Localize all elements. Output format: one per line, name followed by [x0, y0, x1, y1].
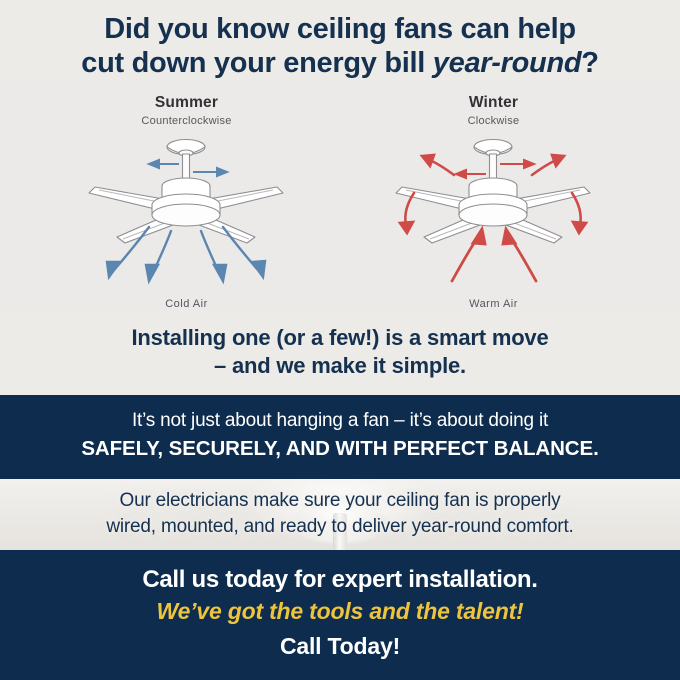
summer-air-label: Cold Air: [69, 298, 304, 310]
electricians-message: Our electricians make sure your ceiling …: [106, 488, 573, 539]
winter-air-label: Warm Air: [376, 298, 611, 310]
summer-ceiling-fan-illustration: [79, 131, 294, 296]
electricians-section: Our electricians make sure your ceiling …: [0, 479, 680, 551]
cta-line-1: Call us today for expert installation.: [16, 566, 664, 595]
winter-subtitle: Clockwise: [376, 115, 611, 127]
winter-lower-airflow-arrows: [452, 229, 536, 281]
headline-line-2-prefix: cut down your energy bill: [81, 47, 433, 79]
winter-title: Winter: [376, 94, 611, 112]
electricians-line-1: Our electricians make sure your ceiling …: [106, 488, 573, 514]
infographic-page: Did you know ceiling fans can help cut d…: [0, 0, 680, 680]
safety-banner-line-2: SAFELY, SECURELY, AND WITH PERFECT BALAN…: [16, 436, 664, 463]
summer-title: Summer: [69, 94, 304, 112]
smart-move-line-1: Installing one (or a few!) is a smart mo…: [30, 324, 650, 352]
cta-line-2: We’ve got the tools and the talent!: [16, 597, 664, 627]
fan-direction-diagram: Summer Counterclockwise: [0, 80, 680, 310]
summer-fan-panel: Summer Counterclockwise: [69, 94, 304, 310]
safety-banner-line-1: It’s not just about hanging a fan – it’s…: [16, 409, 664, 434]
call-to-action-banner[interactable]: Call us today for expert installation. W…: [0, 550, 680, 680]
smart-move-message: Installing one (or a few!) is a smart mo…: [0, 310, 680, 395]
winter-ceiling-fan-illustration: [386, 131, 601, 296]
smart-move-line-2: – and we make it simple.: [30, 352, 650, 380]
safety-banner: It’s not just about hanging a fan – it’s…: [0, 395, 680, 478]
electricians-line-2: wired, mounted, and ready to deliver yea…: [106, 514, 573, 540]
page-title: Did you know ceiling fans can help cut d…: [0, 0, 680, 80]
call-today-button[interactable]: Call Today!: [16, 632, 664, 662]
summer-subtitle: Counterclockwise: [69, 115, 304, 127]
headline-emphasis-year-round: year-round: [433, 47, 581, 79]
headline-line-1: Did you know ceiling fans can help: [18, 12, 662, 46]
headline-line-2: cut down your energy bill year-round?: [18, 46, 662, 80]
winter-fan-panel: Winter Clockwise: [376, 94, 611, 310]
headline-line-2-suffix: ?: [581, 47, 598, 79]
